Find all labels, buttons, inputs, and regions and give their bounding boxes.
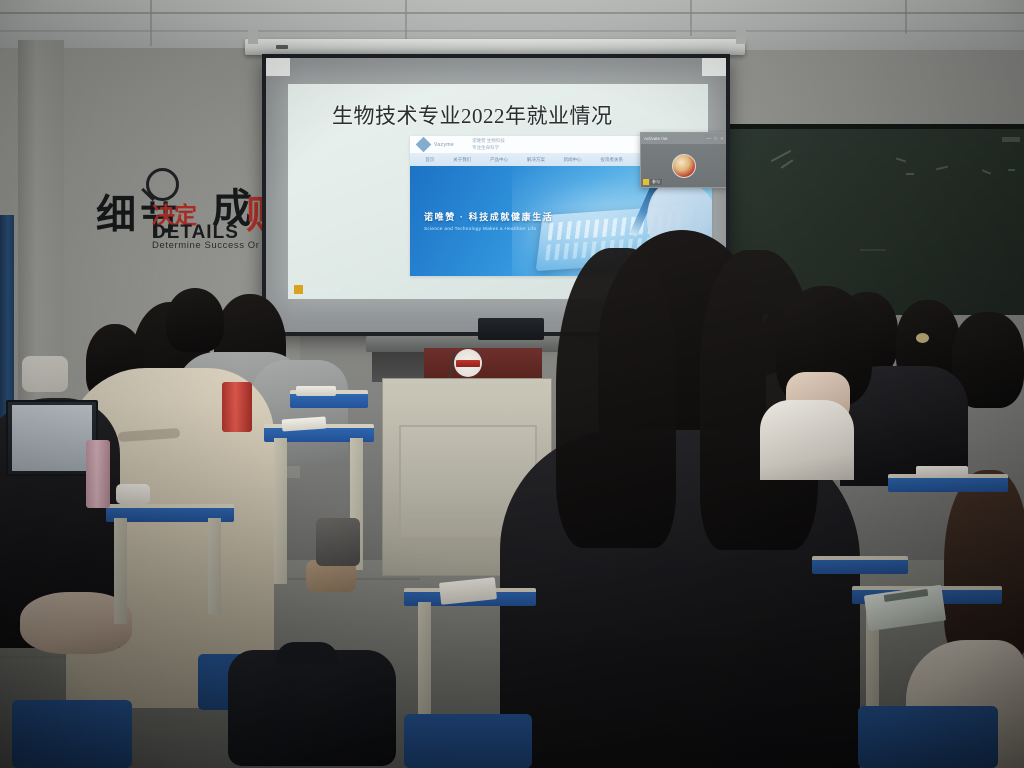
emblem-band [456,360,480,367]
nav-item-1: 关于我们 [453,157,471,163]
classroom-photo-scene: 细 节 决定 成 败 DETAILS Determine Success Or … [0,0,1024,768]
desk-left-front [106,504,234,624]
chair-back-left [12,700,132,768]
window-controls[interactable]: — □ × [707,136,724,141]
chalk-rail [1002,137,1020,142]
roller-knob [276,45,288,49]
desk-right-far [888,474,1008,534]
company-logo-icon [416,137,432,153]
participant-label: 参与 [650,179,662,185]
wall-slogan: 细 节 决定 成 败 DETAILS Determine Success Or … [96,168,274,256]
university-emblem [454,349,482,377]
video-call-body: 参与 [641,144,726,187]
slogan-chinese-first: 细 [96,182,135,240]
plastic-bag [22,356,68,392]
roller-bracket-left [248,30,258,44]
video-call-title: Activate me [644,136,668,141]
wall-pillar [18,40,64,460]
red-tumbler [222,382,252,432]
nav-item-2: 产品中心 [490,157,508,163]
participant-icon [643,179,649,185]
hair-strand-left [556,248,676,548]
backpack [228,650,396,766]
hair-clip-icon [916,333,929,343]
backpack-handle [276,642,338,664]
nav-item-5: 投资者关系 [600,157,623,163]
taskbar-app-label: 学士如何就业指导 [305,287,341,293]
roller-bracket-right [736,30,746,44]
podium-front-panel [424,348,542,378]
laptop-screen-content [12,405,92,471]
video-call-window[interactable]: Activate me — □ × 参与 [640,132,726,188]
avatar [672,154,696,178]
desk-leg [208,518,221,614]
nav-item-0: 首页 [425,157,434,163]
slide-title: 生物技术专业2022年就业情况 [332,100,613,130]
desk-right-back [812,556,908,636]
student-head-left-4 [166,288,224,352]
paper-left [296,386,336,396]
screen-tab-right [702,58,726,76]
taskbar-app-icon[interactable] [294,285,303,294]
student-body-face-covered [760,400,854,480]
screen-tab-left [266,58,290,76]
podium-monitor [478,318,544,340]
banner-subhead: Science and Technology Makes a Healthier… [424,226,553,231]
company-tagline-line2: 专注生命科学 [472,145,505,152]
participant-tag: 参与 [643,178,662,185]
video-call-titlebar[interactable]: Activate me — □ × [641,133,726,144]
company-tagline: 诺唯赞 生物科技 专注生命科学 [472,138,505,152]
nav-item-4: 新闻中心 [564,157,582,163]
white-cup [116,484,150,504]
company-tagline-line1: 诺唯赞 生物科技 [472,138,505,145]
company-brand-name: Vazyme [434,142,454,148]
nav-item-3: 解决方案 [527,157,545,163]
desk-surface [812,556,908,574]
laptop[interactable] [6,400,98,476]
banner-headline: 诺唯赞 · 科技成就健康生活 [424,210,553,223]
paper-right [916,466,968,478]
desk-leg [274,438,287,584]
bag-on-floor [316,518,360,566]
taskbar[interactable]: 学士如何就业指导 [294,284,341,295]
pink-water-bottle [86,440,110,508]
banner-text: 诺唯赞 · 科技成就健康生活 Science and Technology Ma… [424,210,553,231]
desk-leg [114,518,127,624]
projector-screen-roller [245,39,745,55]
chair-back-right [858,706,998,768]
chair-back-center [404,714,532,768]
